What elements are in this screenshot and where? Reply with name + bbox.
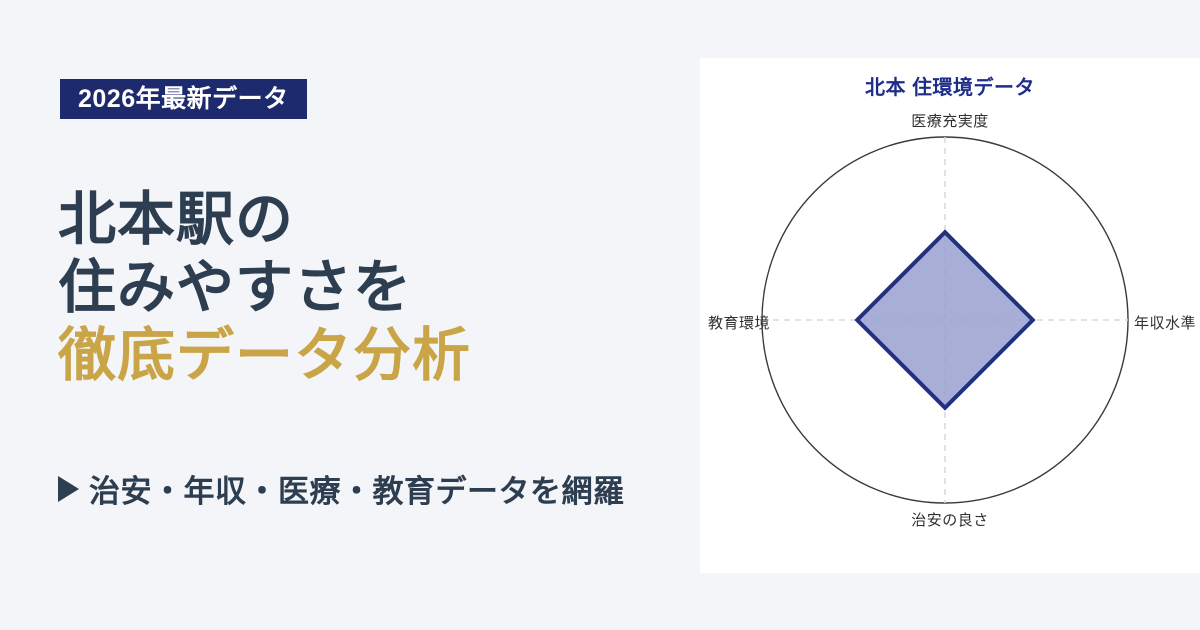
headline-accent-line: 徹底データ分析 bbox=[58, 322, 698, 390]
headline-line-1: 北本駅の bbox=[58, 186, 698, 254]
hero-panel: 2026年最新データ 北本駅の 住みやすさを 徹底データ分析 治安・年収・医療・… bbox=[0, 0, 700, 630]
radar-axis-label-top: 医療充実度 bbox=[700, 110, 1200, 131]
radar-axis-label-bottom: 治安の良さ bbox=[700, 509, 1200, 530]
radar-data-polygon bbox=[857, 232, 1033, 408]
poster-canvas: 2026年最新データ 北本駅の 住みやすさを 徹底データ分析 治安・年収・医療・… bbox=[0, 0, 1200, 630]
radar-chart-svg bbox=[700, 58, 1200, 573]
subtitle: 治安・年収・医療・教育データを網羅 bbox=[58, 466, 625, 511]
radar-chart-card: 北本 住環境データ 医療充実度 年収水準 治安の良さ 教育環境 bbox=[700, 58, 1200, 573]
radar-axis-label-left: 教育環境 bbox=[708, 312, 770, 333]
headline-line-2: 住みやすさを bbox=[58, 254, 698, 322]
badge-label: 2026年最新データ bbox=[78, 87, 289, 112]
subtitle-text: 治安・年収・医療・教育データを網羅 bbox=[89, 466, 625, 511]
latest-data-badge: 2026年最新データ bbox=[60, 79, 307, 119]
play-triangle-icon bbox=[58, 476, 79, 502]
radar-axis-label-right: 年収水準 bbox=[1134, 312, 1196, 333]
page-title: 北本駅の 住みやすさを 徹底データ分析 bbox=[58, 186, 698, 390]
